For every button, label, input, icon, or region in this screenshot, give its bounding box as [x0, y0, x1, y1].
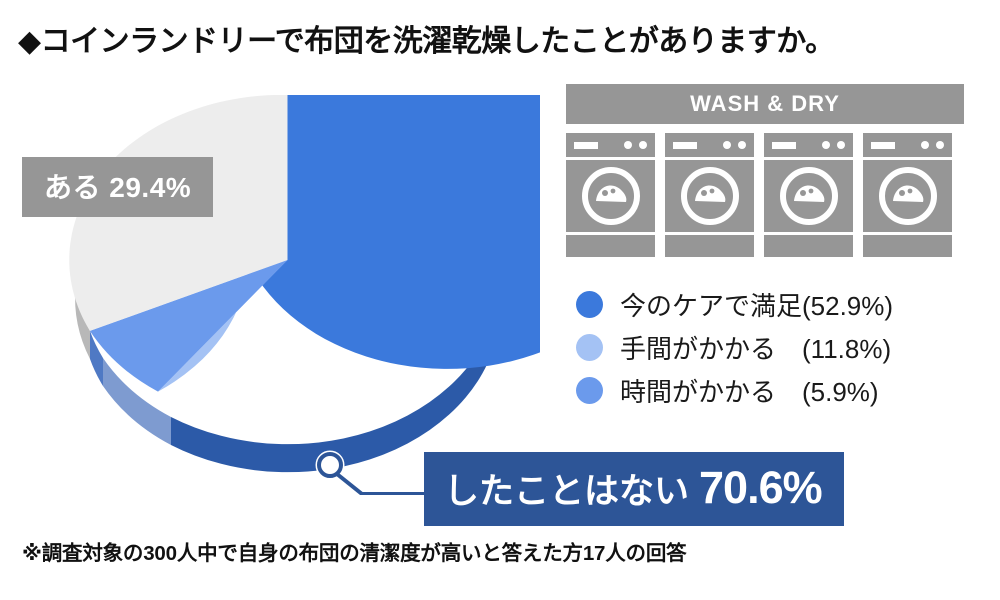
knob-dot-icon: [639, 141, 647, 149]
legend-label-satisfied: 今のケアで満足(52.9%): [620, 286, 893, 323]
have-not-label: したことはない: [444, 463, 689, 514]
machine-control-panel: [566, 133, 655, 157]
machine-base: [665, 235, 754, 257]
washing-machine-4: [863, 133, 952, 257]
machine-body: [566, 160, 655, 232]
knob-dots: [921, 141, 944, 149]
legend-swatch-troublesome: [576, 334, 603, 361]
display-bar-icon: [574, 142, 598, 149]
footnote: ※調査対象の300人中で自身の布団の清潔度が高いと答えた方17人の回答: [22, 536, 686, 566]
pie-chart-svg: [40, 95, 540, 495]
pie-top-face: [69, 95, 540, 392]
washer-door-icon: [778, 165, 840, 227]
legend-label-time-consuming: 時間がかかる (5.9%): [620, 372, 879, 409]
legend-label-troublesome: 手間がかかる (11.8%): [620, 329, 891, 366]
pie-slice-satisfied: [249, 95, 540, 369]
have-not-value: 70.6%: [699, 462, 822, 514]
machine-control-panel: [764, 133, 853, 157]
knob-dots: [624, 141, 647, 149]
washer-door-icon: [580, 165, 642, 227]
knob-dot-icon: [936, 141, 944, 149]
washing-machine-3: [764, 133, 853, 257]
machine-body: [764, 160, 853, 232]
machine-base: [764, 235, 853, 257]
knob-dots: [822, 141, 845, 149]
washing-machine-1: [566, 133, 655, 257]
knob-dot-icon: [921, 141, 929, 149]
knob-dots: [723, 141, 746, 149]
knob-dot-icon: [822, 141, 830, 149]
machine-base: [863, 235, 952, 257]
legend-satisfied: 今のケアで満足(52.9%): [576, 283, 976, 326]
machine-body: [665, 160, 754, 232]
knob-dot-icon: [738, 141, 746, 149]
wash-and-dry-sign: WASH & DRY: [566, 84, 964, 124]
machine-body: [863, 160, 952, 232]
laundromat-illustration: WASH & DRY: [566, 84, 964, 259]
have-badge: ある 29.4%: [22, 157, 213, 217]
page-title: ◆コインランドリーで布団を洗濯乾燥したことがありますか。: [18, 16, 835, 60]
machine-control-panel: [665, 133, 754, 157]
display-bar-icon: [673, 142, 697, 149]
chart-legend: 今のケアで満足(52.9%) 手間がかかる (11.8%) 時間がかかる (5.…: [576, 283, 976, 412]
legend-time-consuming: 時間がかかる (5.9%): [576, 369, 976, 412]
machine-base: [566, 235, 655, 257]
legend-swatch-time-consuming: [576, 377, 603, 404]
washer-door-icon: [679, 165, 741, 227]
display-bar-icon: [871, 142, 895, 149]
knob-dot-icon: [624, 141, 632, 149]
washer-door-icon: [877, 165, 939, 227]
knob-dot-icon: [837, 141, 845, 149]
callout-leader: [319, 454, 440, 494]
machine-row: [566, 133, 964, 257]
washing-machine-2: [665, 133, 754, 257]
legend-troublesome: 手間がかかる (11.8%): [576, 326, 976, 369]
machine-control-panel: [863, 133, 952, 157]
knob-dot-icon: [723, 141, 731, 149]
display-bar-icon: [772, 142, 796, 149]
infographic-root: ◆コインランドリーで布団を洗濯乾燥したことがありますか。: [0, 0, 1000, 600]
pie-chart: [40, 95, 540, 495]
have-not-callout-badge: したことはない 70.6%: [424, 452, 844, 526]
legend-swatch-satisfied: [576, 291, 603, 318]
